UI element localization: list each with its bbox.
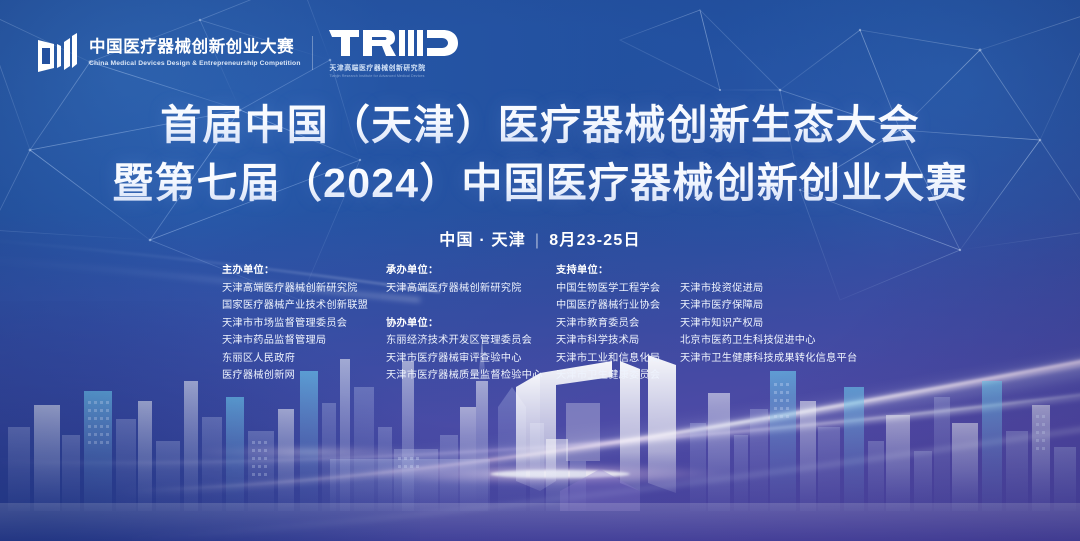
organisers-column-support: 支持单位： 中国生物医学工程学会 中国医疗器械行业协会 天津市教育委员会 天津市… (556, 262, 680, 385)
page-title: 首届中国（天津）医疗器械创新生态大会 暨第七届（2024）中国医疗器械创新创业大… (0, 96, 1080, 212)
coorganiser-item: 东丽经济技术开发区管理委员会 (386, 332, 556, 350)
support-item: 天津市卫生健康委员会 (556, 367, 680, 385)
organiser-item: 东丽区人民政府 (222, 350, 386, 368)
organiser-item: 天津高端医疗器械创新研究院 (222, 280, 386, 298)
support-item: 天津市医疗保障局 (680, 297, 890, 315)
competition-logo-icon (34, 30, 80, 76)
partner-name-cn: 天津高端医疗器械创新研究院 (329, 62, 459, 72)
support-item: 中国医疗器械行业协会 (556, 297, 680, 315)
coorganiser-heading: 协办单位： (386, 315, 556, 333)
organisers-section: 主办单位： 天津高端医疗器械创新研究院 国家医疗器械产业技术创新联盟 天津市市场… (222, 262, 890, 385)
support-item: 天津市卫生健康科技成果转化信息平台 (680, 350, 890, 368)
organiser-item: 天津市市场监督管理委员会 (222, 315, 386, 333)
event-date: 8月23-25日 (549, 232, 640, 249)
undertaker-heading: 承办单位： (386, 262, 556, 280)
partner-name-en: Tianjin Research Institute for Advanced … (329, 74, 459, 78)
organisers-column-support-overflow: 天津市投资促进局 天津市医疗保障局 天津市知识产权局 北京市医药卫生科技促进中心… (680, 262, 890, 367)
organiser-item: 国家医疗器械产业技术创新联盟 (222, 297, 386, 315)
organiser-item: 天津市药品监督管理局 (222, 332, 386, 350)
coorganiser-item: 天津市医疗器械审评查验中心 (386, 350, 556, 368)
organisers-heading: 主办单位： (222, 262, 386, 280)
brand-logo-bar: 中国医疗器械创新创业大赛 China Medical Devices Desig… (34, 28, 459, 78)
event-meta: 中国 · 天津|8月23-25日 (0, 226, 1080, 250)
support-item: 天津市教育委员会 (556, 315, 680, 333)
support-item: 天津市科学技术局 (556, 332, 680, 350)
organisers-column-host: 主办单位： 天津高端医疗器械创新研究院 国家医疗器械产业技术创新联盟 天津市市场… (222, 262, 386, 385)
triid-logo-icon (329, 28, 459, 58)
organiser-item: 医疗器械创新网 (222, 367, 386, 385)
conference-banner: 中国医疗器械创新创业大赛 China Medical Devices Desig… (0, 0, 1080, 541)
undertaker-item: 天津高端医疗器械创新研究院 (386, 280, 556, 298)
support-item: 天津市投资促进局 (680, 280, 890, 298)
title-line-2: 暨第七届（2024）中国医疗器械创新创业大赛 (0, 154, 1080, 212)
organisers-column-undertaker: 承办单位： 天津高端医疗器械创新研究院 协办单位： 东丽经济技术开发区管理委员会… (386, 262, 556, 385)
title-line-1: 首届中国（天津）医疗器械创新生态大会 (0, 96, 1080, 154)
event-location: 中国 · 天津 (439, 232, 526, 249)
support-item: 北京市医药卫生科技促进中心 (680, 332, 890, 350)
meta-separator: | (535, 232, 540, 250)
logo-divider (312, 36, 313, 70)
support-item: 天津市工业和信息化局 (556, 350, 680, 368)
support-heading: 支持单位： (556, 262, 680, 280)
coorganiser-item: 天津市医疗器械质量监督检验中心 (386, 367, 556, 385)
partner-logo-block: 天津高端医疗器械创新研究院 Tianjin Research Institute… (329, 28, 459, 78)
competition-name-en: China Medical Devices Design & Entrepren… (89, 60, 301, 68)
support-item: 天津市知识产权局 (680, 315, 890, 333)
competition-name-cn: 中国医疗器械创新创业大赛 (89, 38, 296, 57)
support-item: 中国生物医学工程学会 (556, 280, 680, 298)
column-spacer (386, 297, 556, 315)
competition-logo-text: 中国医疗器械创新创业大赛 China Medical Devices Desig… (89, 38, 296, 68)
